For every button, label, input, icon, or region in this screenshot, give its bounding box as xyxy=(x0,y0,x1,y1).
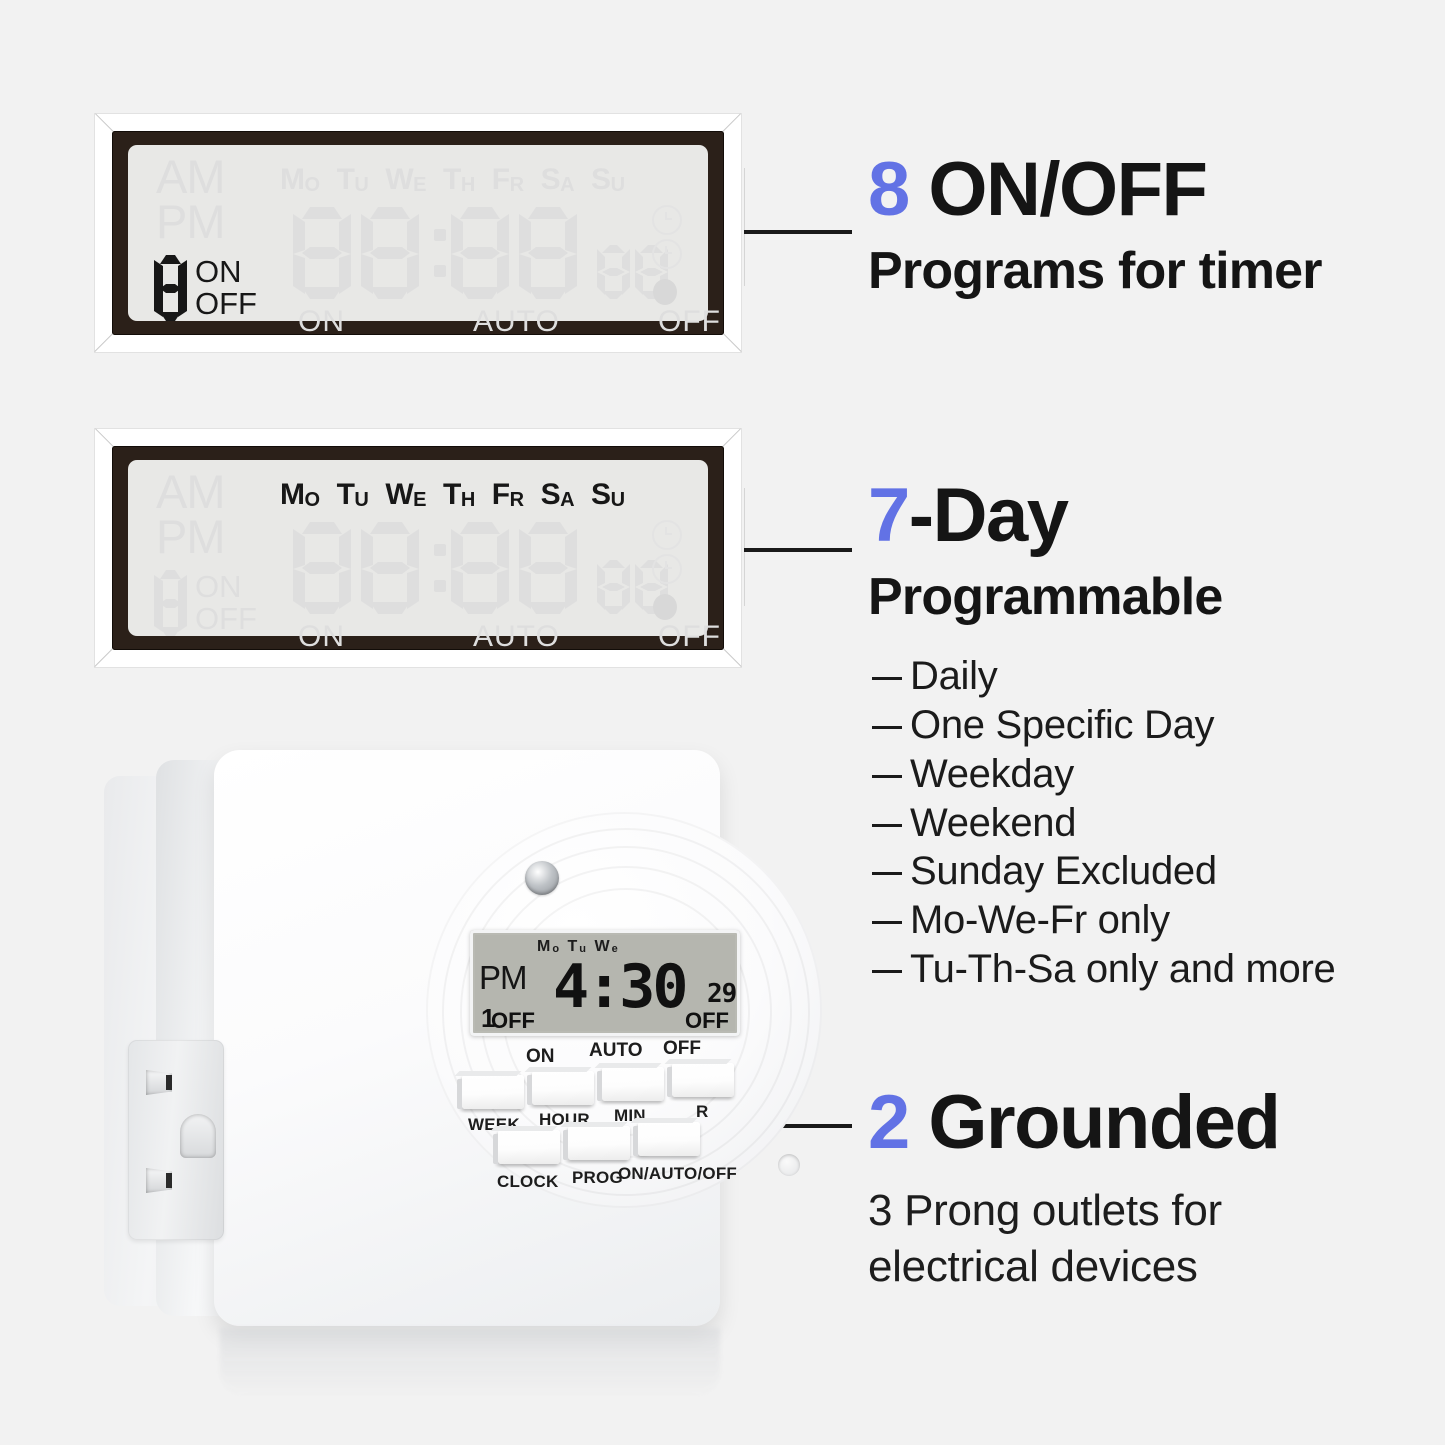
lcd-pm-label: PM xyxy=(156,200,225,245)
infographic-page: AM PM MO TU WE TH FR SA SU xyxy=(0,0,1445,1445)
lcd-on-label: ON xyxy=(195,571,257,603)
lcd-screen: AM PM MO TU WE TH FR SA SU xyxy=(128,145,708,321)
seven-segment-digit xyxy=(451,522,509,614)
lcd-status-icons xyxy=(652,205,682,305)
list-item: Tu-Th-Sa only and more xyxy=(872,945,1335,994)
callout-grounded: 2 Grounded 3 Prong outlets for electrica… xyxy=(868,1085,1279,1296)
device-lcd-screen: Mo Tu We PM 4:30 29 1 OFF OFF xyxy=(475,935,735,1031)
seven-segment-digit xyxy=(293,522,351,614)
list-item: Mo-We-Fr only xyxy=(872,896,1335,945)
list-item-label: One Specific Day xyxy=(910,701,1214,750)
device-lcd-display: Mo Tu We PM 4:30 29 1 OFF OFF xyxy=(470,930,740,1036)
seven-segment-digit-program xyxy=(154,570,186,636)
list-item: Sunday Excluded xyxy=(872,847,1335,896)
clock-icon xyxy=(652,520,682,550)
callout-programs: 8 ON/OFF Programs for timer xyxy=(868,152,1322,300)
lcd-day-th: TH xyxy=(443,163,475,197)
lcd-off-label: OFF xyxy=(195,603,257,635)
lcd-weekday-row: MO TU WE TH FR SA SU xyxy=(280,478,625,512)
lcd-day-sa: SA xyxy=(541,478,574,512)
lcd-program-index-group: ON OFF xyxy=(154,255,257,321)
list-item-label: Mo-We-Fr only xyxy=(910,896,1170,945)
lcd-day-we: WE xyxy=(385,163,426,197)
reset-pinhole-icon[interactable] xyxy=(778,1154,800,1176)
lcd-screen: AM PM MO TU WE TH FR SA SU xyxy=(128,460,708,636)
device-reflection xyxy=(220,1328,720,1398)
label-off: OFF xyxy=(663,1038,701,1060)
power-led-icon xyxy=(525,861,559,895)
callout-grounded-sub-line1: 3 Prong outlets for xyxy=(868,1183,1279,1239)
callout-sevenday-heading: 7-Day xyxy=(868,478,1335,554)
button-label-prog: PROG xyxy=(572,1168,623,1188)
callout-sevenday-number: 7 xyxy=(868,473,909,558)
device-lcd-seconds: 29 xyxy=(707,979,736,1009)
callout-programs-number: 8 xyxy=(868,147,909,232)
lcd-panel-programs: AM PM MO TU WE TH FR SA SU xyxy=(94,113,742,353)
callout-grounded-sub-line2: electrical devices xyxy=(868,1239,1279,1295)
lcd-on-label: ON xyxy=(195,256,257,288)
outlet-ground-hole xyxy=(180,1114,216,1158)
lcd-day-su: SU xyxy=(591,478,624,512)
lcd-day-mo: MO xyxy=(280,163,320,197)
device-lcd-relay-state: OFF xyxy=(685,1008,729,1034)
lcd-day-fr: FR xyxy=(492,163,524,197)
callout-sevenday-heading-text: -Day xyxy=(909,473,1068,558)
connector-tick xyxy=(744,488,745,606)
lcd-mode-auto: AUTO xyxy=(473,620,560,654)
lcd-day-we: WE xyxy=(385,478,426,512)
seven-segment-digit xyxy=(519,522,577,614)
label-auto: AUTO xyxy=(589,1040,642,1062)
seven-segment-digit xyxy=(451,207,509,299)
callout-sevenday-subheading: Programmable xyxy=(868,568,1335,626)
device-lcd-program-state: OFF xyxy=(491,1008,535,1034)
callout-programs-heading: 8 ON/OFF xyxy=(868,152,1322,228)
callout-programs-subheading: Programs for timer xyxy=(868,242,1322,300)
feature-list: Daily One Specific Day Weekday Weekend S… xyxy=(872,652,1335,994)
clock-icon xyxy=(652,239,682,269)
outlet-slot-neutral xyxy=(146,1168,172,1193)
lcd-day-tu: TU xyxy=(337,478,369,512)
button-min[interactable] xyxy=(602,1067,664,1101)
lcd-bezel: AM PM MO TU WE TH FR SA SU xyxy=(112,446,724,650)
lcd-ampm-group: AM PM xyxy=(156,470,225,559)
device-lcd-time: 4:30 xyxy=(553,952,686,1022)
device-front-face: Mo Tu We PM 4:30 29 1 OFF OFF ON AUTO OF… xyxy=(214,750,720,1326)
button-on-auto-off[interactable] xyxy=(638,1122,700,1156)
outlet-slot-hot xyxy=(146,1070,172,1095)
lcd-mode-off: OFF xyxy=(658,620,721,654)
button-week[interactable] xyxy=(462,1075,524,1109)
callout-sevenday: 7-Day Programmable Daily One Specific Da… xyxy=(868,478,1335,994)
label-on: ON xyxy=(526,1046,555,1068)
seven-segment-digit-seconds xyxy=(597,560,630,613)
lcd-status-icons xyxy=(652,520,682,620)
list-item: Daily xyxy=(872,652,1335,701)
button-hour[interactable] xyxy=(532,1071,594,1105)
lcd-day-mo: MO xyxy=(280,478,320,512)
list-item-label: Tu-Th-Sa only and more xyxy=(910,945,1335,994)
lcd-time-digits xyxy=(293,522,673,614)
callout-grounded-heading-text: Grounded xyxy=(909,1080,1280,1165)
lcd-day-tu: TU xyxy=(337,163,369,197)
lcd-time-digits xyxy=(293,207,673,299)
connector-tick xyxy=(744,168,745,286)
lcd-pm-label: PM xyxy=(156,515,225,560)
lcd-am-label: AM xyxy=(156,155,225,200)
lcd-weekday-row: MO TU WE TH FR SA SU xyxy=(280,163,625,197)
button-prog[interactable] xyxy=(568,1126,630,1160)
seven-segment-digit xyxy=(361,207,419,299)
button-label-on-auto-off: ON/AUTO/OFF xyxy=(618,1164,737,1184)
connector-line-programs xyxy=(744,230,852,234)
lcd-day-fr: FR xyxy=(492,478,524,512)
button-clock[interactable] xyxy=(498,1130,560,1164)
clock-icon xyxy=(652,554,682,584)
button-label-reset: R xyxy=(696,1102,708,1122)
timer-device: Mo Tu We PM 4:30 29 1 OFF OFF ON AUTO OF… xyxy=(100,740,760,1380)
lcd-colon-icon xyxy=(429,207,451,299)
grounded-outlet xyxy=(128,1040,224,1240)
callout-grounded-number: 2 xyxy=(868,1080,909,1165)
lcd-panel-sevenday: AM PM MO TU WE TH FR SA SU xyxy=(94,428,742,668)
list-item: Weekend xyxy=(872,799,1335,848)
lcd-mode-auto: AUTO xyxy=(473,305,560,339)
seven-segment-digit-seconds xyxy=(597,245,630,298)
seven-segment-digit xyxy=(293,207,351,299)
connector-line-sevenday xyxy=(744,548,852,552)
lcd-frame: AM PM MO TU WE TH FR SA SU xyxy=(94,428,742,668)
lcd-mode-on: ON xyxy=(298,620,345,654)
indicator-dot-icon xyxy=(653,594,677,620)
lcd-day-th: TH xyxy=(443,478,475,512)
clock-icon xyxy=(652,205,682,235)
list-item: Weekday xyxy=(872,750,1335,799)
list-item-label: Weekend xyxy=(910,799,1076,848)
lcd-program-index-group: ON OFF xyxy=(154,570,257,636)
lcd-day-sa: SA xyxy=(541,163,574,197)
list-item-label: Daily xyxy=(910,652,997,701)
callout-grounded-heading: 2 Grounded xyxy=(868,1085,1279,1161)
callout-programs-heading-text: ON/OFF xyxy=(909,147,1207,232)
lcd-off-label: OFF xyxy=(195,288,257,320)
list-item-label: Weekday xyxy=(910,750,1074,799)
lcd-mode-off: OFF xyxy=(658,305,721,339)
lcd-mode-on: ON xyxy=(298,305,345,339)
seven-segment-digit xyxy=(519,207,577,299)
lcd-bezel: AM PM MO TU WE TH FR SA SU xyxy=(112,131,724,335)
seven-segment-digit xyxy=(361,522,419,614)
lcd-frame: AM PM MO TU WE TH FR SA SU xyxy=(94,113,742,353)
seven-segment-digit-program xyxy=(154,255,186,321)
indicator-dot-icon xyxy=(653,279,677,305)
button-reset[interactable] xyxy=(672,1063,734,1097)
lcd-colon-icon xyxy=(429,522,451,614)
lcd-am-label: AM xyxy=(156,470,225,515)
lcd-ampm-group: AM PM xyxy=(156,155,225,244)
button-label-clock: CLOCK xyxy=(497,1172,558,1192)
device-lcd-ampm: PM xyxy=(479,959,527,997)
list-item: One Specific Day xyxy=(872,701,1335,750)
list-item-label: Sunday Excluded xyxy=(910,847,1217,896)
lcd-day-su: SU xyxy=(591,163,624,197)
